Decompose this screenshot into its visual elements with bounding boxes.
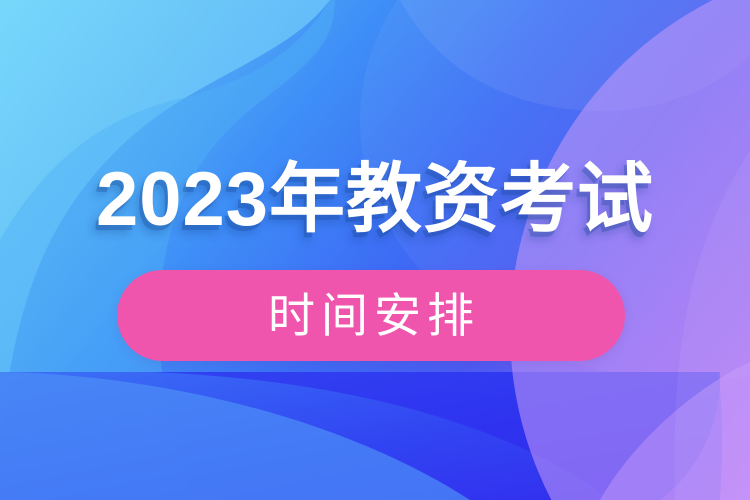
promo-banner: 2023年教资考试 时间安排 (0, 0, 750, 500)
background-decoration (0, 0, 750, 500)
banner-headline: 2023年教资考试 (96, 152, 654, 248)
subtitle-pill: 时间安排 (117, 270, 625, 361)
headline-container: 2023年教资考试 (0, 152, 750, 248)
subtitle-pill-label: 时间安排 (262, 289, 480, 343)
